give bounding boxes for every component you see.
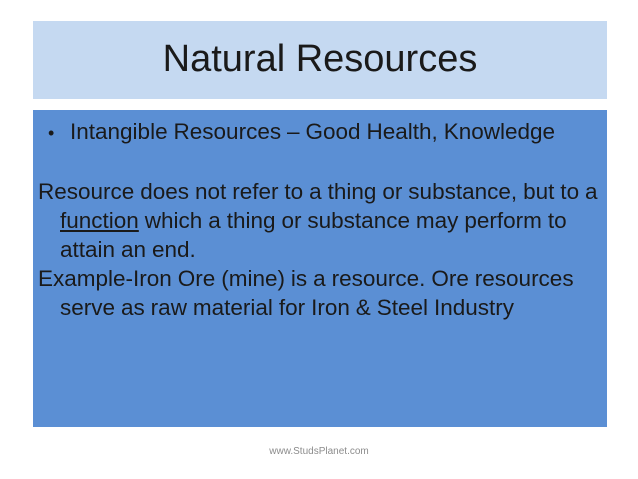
bullet-icon: • (48, 119, 70, 148)
slide-body-box: •Intangible Resources – Good Health, Kno… (33, 110, 607, 427)
body-paragraph-definition: Resource does not refer to a thing or su… (38, 177, 599, 264)
body-paragraph-example: Example-Iron Ore (mine) is a resource. O… (38, 264, 599, 322)
list-item-label: Intangible Resources – Good Health, Know… (70, 119, 555, 144)
page-title: Natural Resources (163, 40, 478, 80)
slide-title-box: Natural Resources (33, 21, 607, 99)
footer-watermark: www.StudsPlanet.com (0, 446, 638, 457)
blank-line (38, 148, 599, 177)
list-item: •Intangible Resources – Good Health, Kno… (38, 117, 599, 148)
underlined-term: function (60, 208, 139, 233)
slide: Natural Resources •Intangible Resources … (0, 0, 638, 479)
paragraph-text-before: Resource does not refer to a thing or su… (38, 179, 598, 204)
